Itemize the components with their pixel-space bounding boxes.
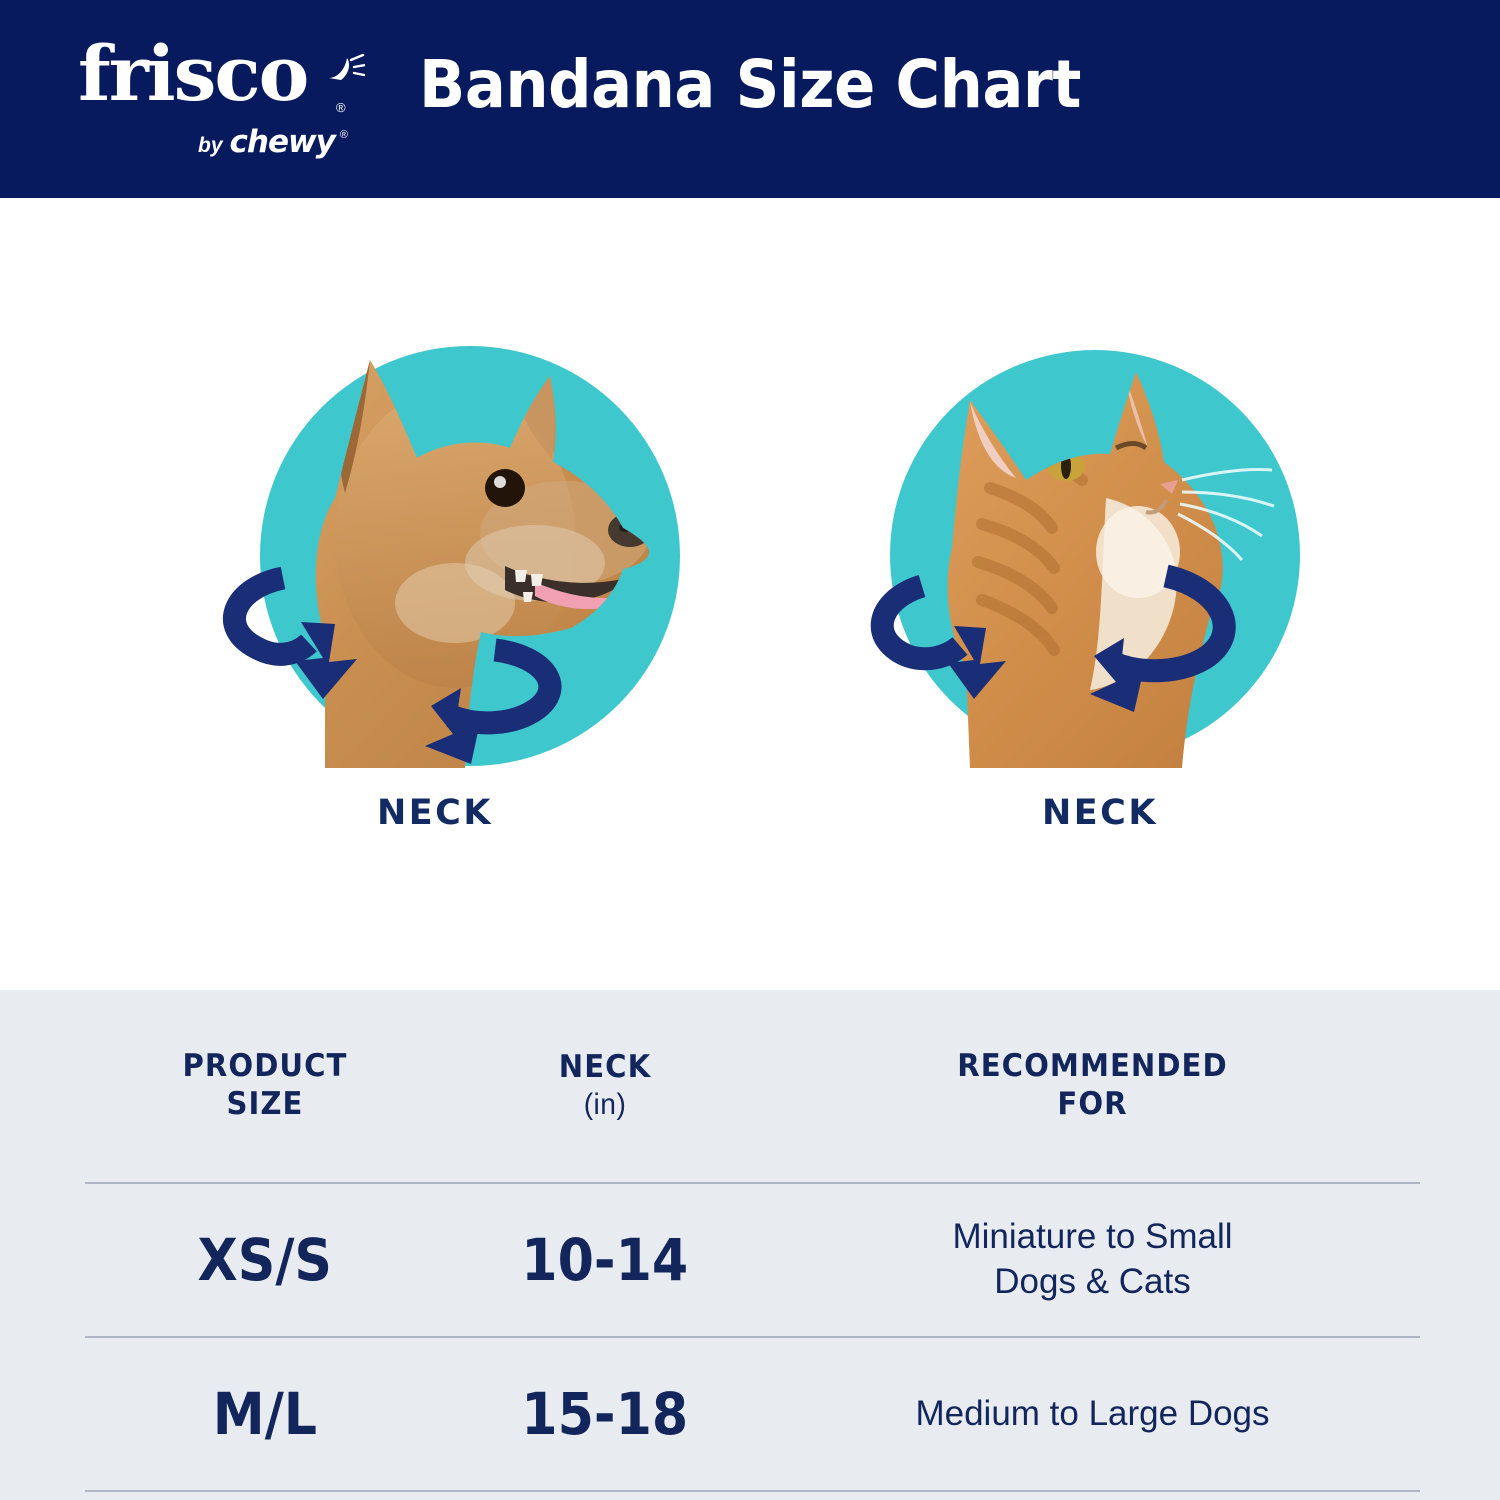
- cat-photo-graphic: [870, 338, 1330, 768]
- column-header-recommended-for-line2: FOR: [1057, 1086, 1127, 1122]
- cat-measurement-illustration: NECK: [820, 338, 1380, 858]
- table-bottom-rule-cell: [85, 1491, 445, 1500]
- cell-neck: 15-18: [445, 1337, 765, 1491]
- column-header-product-size-line2: SIZE: [226, 1086, 303, 1122]
- size-chart-table: PRODUCT SIZE NECK (in) RECOMMENDED FOR: [85, 990, 1420, 1500]
- value-recommended-for: Miniature to Small Dogs & Cats: [765, 1215, 1420, 1305]
- chewy-registered-mark-icon: ®: [340, 129, 348, 141]
- dog-photo-graphic: [205, 338, 665, 768]
- cell-product-size: XS/S: [85, 1183, 445, 1337]
- header-bar: frisco ® by chewy ® Bandana Size Chart: [0, 0, 1500, 198]
- value-recommended-for: Medium to Large Dogs: [765, 1392, 1420, 1437]
- cell-neck: 10-14: [445, 1183, 765, 1337]
- cell-recommended-for: Medium to Large Dogs: [765, 1337, 1420, 1491]
- cat-stage: [870, 338, 1330, 768]
- cell-recommended-for: Miniature to Small Dogs & Cats: [765, 1183, 1420, 1337]
- dog-stage: [205, 338, 665, 768]
- cat-neck-label: NECK: [820, 793, 1380, 833]
- by-label: by: [198, 134, 223, 158]
- column-header-neck: NECK (in): [455, 990, 756, 1183]
- by-chewy-lockup: by chewy ®: [198, 124, 350, 160]
- value-recommended-for-line1: Medium to Large Dogs: [915, 1394, 1269, 1433]
- table-bottom-rule-cell: [765, 1491, 1420, 1500]
- table-header-row: PRODUCT SIZE NECK (in) RECOMMENDED FOR: [85, 990, 1420, 1183]
- table-row: M/L 15-18 Medium to Large Dogs: [85, 1337, 1420, 1491]
- dog-neck-label: NECK: [155, 793, 715, 833]
- chewy-wordmark: chewy: [230, 124, 335, 160]
- column-header-neck-line1: NECK: [559, 1049, 651, 1085]
- value-recommended-for-line1: Miniature to Small: [952, 1217, 1232, 1256]
- value-product-size: M/L: [213, 1380, 317, 1448]
- page-title: Bandana Size Chart: [60, 52, 1440, 118]
- column-header-recommended-for: RECOMMENDED FOR: [785, 990, 1401, 1183]
- size-chart-page: frisco ® by chewy ® Bandana Size Chart: [0, 0, 1500, 1500]
- table-head: PRODUCT SIZE NECK (in) RECOMMENDED FOR: [85, 990, 1420, 1183]
- value-neck: 10-14: [522, 1226, 689, 1294]
- column-header-recommended-for-line1: RECOMMENDED: [957, 1048, 1227, 1084]
- value-neck: 15-18: [522, 1380, 689, 1448]
- illustration-area: NECK: [0, 198, 1500, 990]
- table-body: XS/S 10-14 Miniature to Small Dogs & Cat…: [85, 1183, 1420, 1500]
- value-product-size: XS/S: [198, 1226, 333, 1294]
- table-row: XS/S 10-14 Miniature to Small Dogs & Cat…: [85, 1183, 1420, 1337]
- table-bottom-rule-cell: [445, 1491, 765, 1500]
- cell-product-size: M/L: [85, 1337, 445, 1491]
- column-header-product-size: PRODUCT SIZE: [96, 990, 434, 1183]
- dog-measurement-illustration: NECK: [155, 338, 715, 858]
- column-header-product-size-line1: PRODUCT: [183, 1048, 348, 1084]
- size-table-band: PRODUCT SIZE NECK (in) RECOMMENDED FOR: [0, 990, 1500, 1500]
- dog-neck-measure-arrow: [234, 578, 309, 654]
- value-recommended-for-line2: Dogs & Cats: [994, 1262, 1190, 1301]
- table-bottom-rule-row: [85, 1491, 1420, 1500]
- column-header-neck-unit: (in): [455, 1087, 756, 1124]
- dog-silhouette: [285, 338, 665, 768]
